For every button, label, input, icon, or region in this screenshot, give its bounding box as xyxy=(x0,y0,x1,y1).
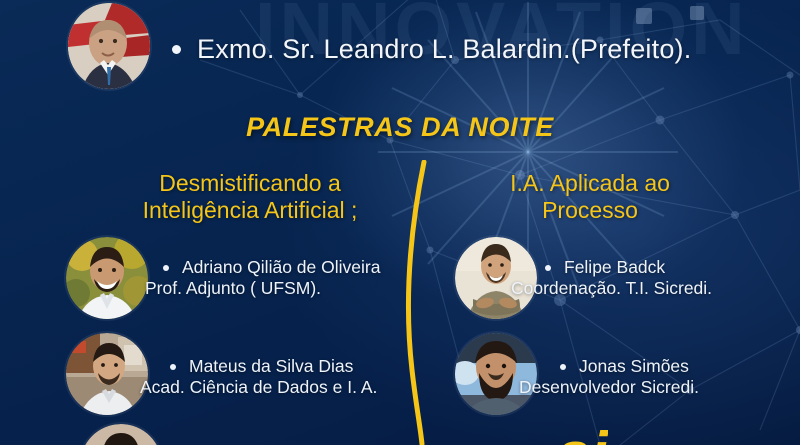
photo-adriano-qiliao-de-oliveira xyxy=(66,237,148,319)
bullet-icon xyxy=(172,45,181,54)
speaker-entry: Adriano Qilião de Oliveira Prof. Adjunto… xyxy=(163,257,380,299)
column-title-left-line1: Desmistificando a xyxy=(85,170,415,197)
speaker-name: Adriano Qilião de Oliveira xyxy=(182,257,380,278)
speaker-entry: Jonas Simões Desenvolvedor Sicredi. xyxy=(560,356,699,398)
speaker-name: Mateus da Silva Dias xyxy=(189,356,353,377)
avatar xyxy=(68,3,150,89)
avatar xyxy=(66,333,148,415)
event-poster: INNOVATION Exm xyxy=(0,0,800,445)
avatar xyxy=(66,237,148,319)
mayor-name-text: Exmo. Sr. Leandro L. Balardin.(Prefeito)… xyxy=(197,34,691,65)
speaker-name-row: Felipe Badck xyxy=(545,257,712,278)
bullet-icon xyxy=(163,265,169,271)
mayor-headline: Exmo. Sr. Leandro L. Balardin.(Prefeito)… xyxy=(172,34,691,65)
bullet-icon xyxy=(170,364,176,370)
column-title-left: Desmistificando a Inteligência Artificia… xyxy=(85,170,415,224)
speaker-name: Felipe Badck xyxy=(564,257,665,278)
speaker-role: Prof. Adjunto ( UFSM). xyxy=(145,278,380,299)
avatar xyxy=(455,333,537,415)
photo-mateus-da-silva-dias xyxy=(66,333,148,415)
column-title-right: I.A. Aplicada ao Processo xyxy=(440,170,740,224)
bullet-icon xyxy=(545,265,551,271)
speaker-name-row: Adriano Qilião de Oliveira xyxy=(163,257,380,278)
speaker-name: Jonas Simões xyxy=(579,356,689,377)
footer-partial-glyph: ai xyxy=(556,424,608,445)
speaker-name-row: Mateus da Silva Dias xyxy=(170,356,377,377)
photo-leandro-balardin xyxy=(68,3,150,89)
column-title-right-line1: I.A. Aplicada ao xyxy=(440,170,740,197)
speaker-role: Coordenação. T.I. Sicredi. xyxy=(511,278,712,299)
speaker-role: Desenvolvedor Sicredi. xyxy=(519,377,699,398)
speaker-entry: Felipe Badck Coordenação. T.I. Sicredi. xyxy=(545,257,712,299)
column-title-left-line2: Inteligência Artificial ; xyxy=(85,197,415,224)
photo-jonas-simoes xyxy=(455,333,537,415)
section-title: PALESTRAS DA NOITE xyxy=(0,112,800,143)
speaker-role: Acad. Ciência de Dados e I. A. xyxy=(140,377,377,398)
speaker-entry: Mateus da Silva Dias Acad. Ciência de Da… xyxy=(170,356,377,398)
column-title-right-line2: Processo xyxy=(440,197,740,224)
bullet-icon xyxy=(560,364,566,370)
speaker-name-row: Jonas Simões xyxy=(560,356,699,377)
